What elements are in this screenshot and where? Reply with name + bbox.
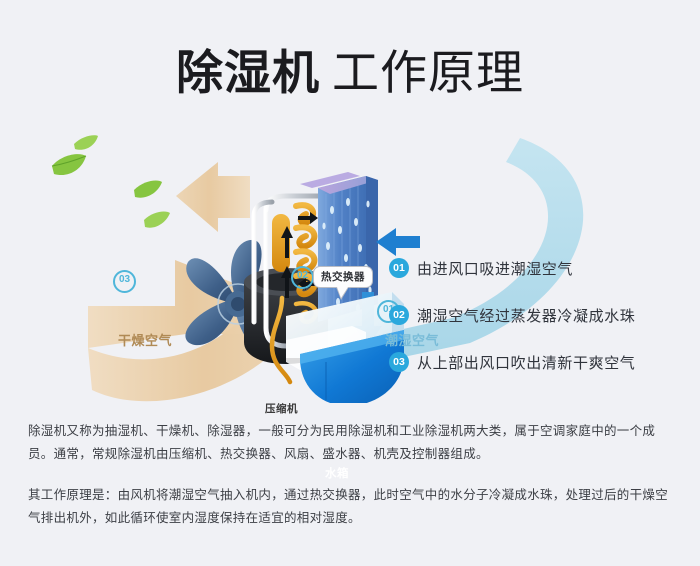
diagram-marker-02: 02 (291, 266, 314, 289)
body-paragraph-2: 其工作原理是：由风机将潮湿空气抽入机内，通过热交换器，此时空气中的水分子冷凝成水… (28, 484, 676, 530)
page-title-primary: 除湿机 (176, 46, 320, 99)
steps-list: 01 由进风口吸进潮湿空气 02 潮湿空气经过蒸发器冷凝成水珠 03 从上部出风… (389, 253, 689, 394)
leaf-icon (52, 135, 170, 227)
step-item-02: 02 潮湿空气经过蒸发器冷凝成水珠 (389, 300, 689, 330)
step-item-03: 03 从上部出风口吹出清新干爽空气 (389, 347, 689, 377)
diagram-marker-03: 03 (113, 270, 136, 293)
step-text-02: 潮湿空气经过蒸发器冷凝成水珠 (417, 305, 635, 326)
dry-air-label: 干燥空气 (118, 330, 172, 349)
step-text-01: 由进风口吸进潮湿空气 (417, 258, 573, 279)
body-copy: 除湿机又称为抽湿机、干燥机、除湿器，一般可分为民用除湿机和工业除湿机两大类，属于… (28, 420, 676, 530)
step-badge-01: 01 (389, 258, 409, 278)
page-root: 除湿机工作原理 (0, 0, 700, 566)
heat-exchanger-callout: 热交换器 (313, 266, 373, 288)
page-title-secondary: 工作原理 (332, 46, 524, 99)
step-item-01: 01 由进风口吸进潮湿空气 (389, 253, 689, 283)
compressor-label: 压缩机 (265, 401, 298, 416)
page-title: 除湿机工作原理 (0, 34, 700, 103)
body-paragraph-1: 除湿机又称为抽湿机、干燥机、除湿器，一般可分为民用除湿机和工业除湿机两大类，属于… (28, 420, 676, 466)
step-text-03: 从上部出风口吹出清新干爽空气 (417, 352, 635, 373)
step-badge-03: 03 (389, 352, 409, 372)
intake-arrow (376, 228, 420, 256)
step-badge-02: 02 (389, 305, 409, 325)
